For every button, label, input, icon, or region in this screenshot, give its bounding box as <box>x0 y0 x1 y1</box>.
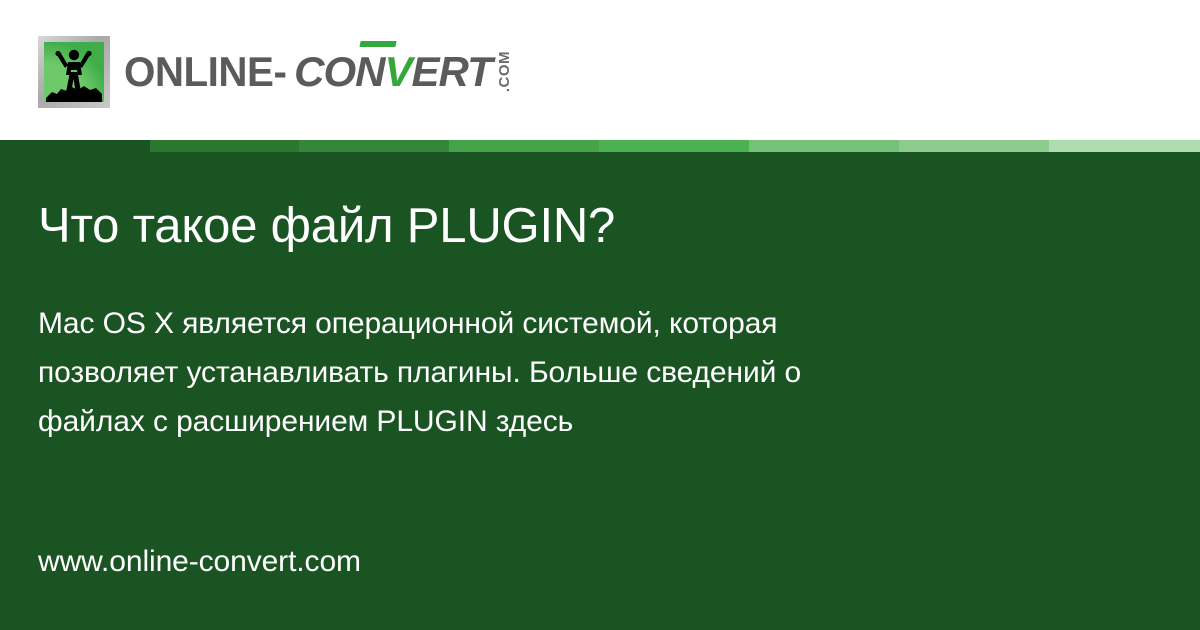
person-arms-raised-icon <box>44 42 104 102</box>
page-title: Что такое файл PLUGIN? <box>38 198 1118 254</box>
stripe-segment-8 <box>1049 140 1200 152</box>
header-bar: ONLINE- CON V ERT .COM <box>0 0 1200 140</box>
stripe-segment-2 <box>150 140 299 152</box>
logo-mark-frame <box>38 36 110 108</box>
stripe-segment-6 <box>749 140 899 152</box>
stripe-segment-3 <box>299 140 449 152</box>
logo-v-letter: V <box>385 48 412 95</box>
logo-word-con: CON <box>294 51 384 93</box>
stripe-segment-1 <box>0 140 150 152</box>
stripe-segment-4 <box>449 140 599 152</box>
accent-stripe-band <box>0 140 1200 152</box>
description-text: Mac OS X является операционной системой,… <box>38 299 1078 446</box>
stripe-segment-5 <box>599 140 749 152</box>
logo-word-online: ONLINE- <box>124 51 286 93</box>
description-line-3: файлах с расширением PLUGIN здесь <box>38 397 1078 446</box>
stripe-segment-7 <box>899 140 1049 152</box>
description-line-2: позволяет устанавливать плагины. Больше … <box>38 348 1078 397</box>
logo-word-convert-group: CON V ERT <box>294 51 492 93</box>
description-line-1: Mac OS X является операционной системой,… <box>38 299 1078 348</box>
logo-word-ert: ERT <box>412 51 492 93</box>
logo-word-v-accent: V <box>385 51 412 93</box>
logo-v-bar <box>359 41 396 47</box>
logo-tld-dotcom: .COM <box>497 51 512 92</box>
logo-tile <box>44 42 104 102</box>
content-area: Что такое файл PLUGIN? Mac OS X является… <box>0 152 1200 630</box>
site-url-label: www.online-convert.com <box>38 544 361 580</box>
logo-wordmark: ONLINE- CON V ERT .COM <box>124 36 512 108</box>
social-share-card: ONLINE- CON V ERT .COM Что такое файл PL… <box>0 0 1200 630</box>
site-logo[interactable]: ONLINE- CON V ERT .COM <box>38 36 512 108</box>
